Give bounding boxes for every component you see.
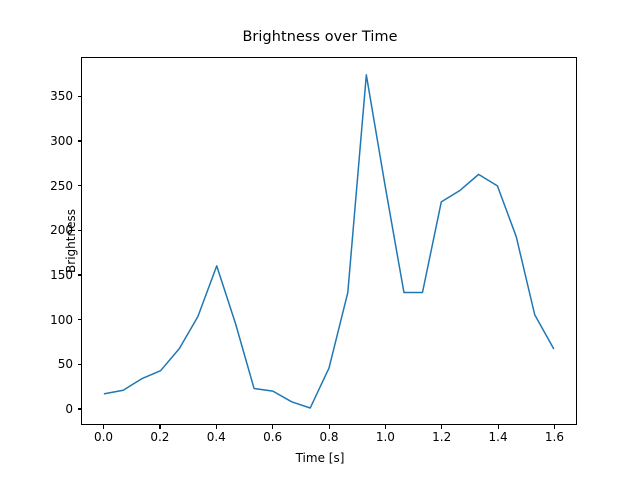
y-tick-label: 150 bbox=[20, 268, 73, 282]
x-tick-label: 0.0 bbox=[94, 430, 113, 444]
x-tick-mark bbox=[329, 425, 330, 429]
y-tick-mark bbox=[78, 319, 82, 320]
x-tick-mark bbox=[441, 425, 442, 429]
y-tick-mark bbox=[78, 96, 82, 97]
x-tick-mark bbox=[159, 425, 160, 429]
x-tick-mark bbox=[272, 425, 273, 429]
y-tick-label: 100 bbox=[20, 313, 73, 327]
plot-axes-frame bbox=[81, 57, 577, 425]
y-tick-mark bbox=[78, 408, 82, 409]
y-tick-label: 300 bbox=[20, 134, 73, 148]
chart-title: Brightness over Time bbox=[0, 29, 640, 45]
x-tick-mark bbox=[498, 425, 499, 429]
y-tick-mark bbox=[78, 274, 82, 275]
x-tick-mark bbox=[103, 425, 104, 429]
y-tick-mark bbox=[78, 364, 82, 365]
y-tick-mark bbox=[78, 140, 82, 141]
line-chart-svg bbox=[82, 58, 576, 424]
x-tick-label: 1.6 bbox=[545, 430, 564, 444]
x-tick-label: 0.2 bbox=[150, 430, 169, 444]
x-tick-mark bbox=[216, 425, 217, 429]
x-tick-label: 0.8 bbox=[319, 430, 338, 444]
y-tick-label: 200 bbox=[20, 223, 73, 237]
x-tick-label: 1.0 bbox=[376, 430, 395, 444]
x-axis-label: Time [s] bbox=[0, 451, 640, 465]
brightness-line-series bbox=[104, 75, 553, 408]
x-tick-label: 1.4 bbox=[489, 430, 508, 444]
y-tick-mark bbox=[78, 230, 82, 231]
y-tick-label: 250 bbox=[20, 179, 73, 193]
x-tick-mark bbox=[385, 425, 386, 429]
x-tick-label: 0.4 bbox=[207, 430, 226, 444]
x-tick-label: 0.6 bbox=[263, 430, 282, 444]
matplotlib-figure: Brightness over Time Time [s] Brightness… bbox=[0, 0, 640, 480]
y-tick-label: 50 bbox=[20, 357, 73, 371]
y-tick-label: 350 bbox=[20, 89, 73, 103]
x-tick-mark bbox=[554, 425, 555, 429]
y-tick-label: 0 bbox=[20, 402, 73, 416]
x-tick-label: 1.2 bbox=[432, 430, 451, 444]
y-tick-mark bbox=[78, 185, 82, 186]
